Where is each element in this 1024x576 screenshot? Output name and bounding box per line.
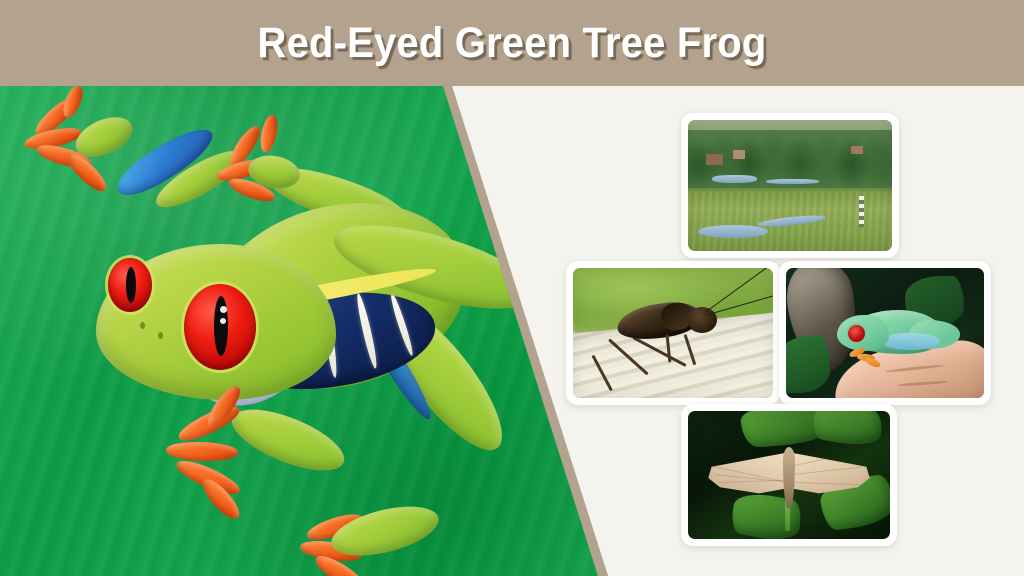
frog-nostril — [140, 322, 145, 329]
wetland-house — [851, 146, 863, 154]
habitat-photo-card[interactable] — [681, 113, 899, 258]
moth-photo-card[interactable] — [681, 404, 897, 546]
wetland-house — [733, 150, 745, 159]
cricket-photo-card[interactable] — [566, 261, 780, 405]
wetland-habitat-photo — [688, 120, 892, 251]
slide-canvas: Red-Eyed Green Tree Frog — [0, 0, 1024, 576]
frog-far-eye — [108, 258, 152, 312]
hand-photo-leaf — [786, 336, 830, 393]
page-title: Red-Eyed Green Tree Frog — [36, 0, 988, 86]
wetland-marker-post — [859, 196, 863, 227]
frog-toe — [258, 113, 281, 153]
frog-in-hand-photo-card[interactable] — [779, 261, 991, 405]
tree-frog-in-hand-photo — [786, 268, 984, 398]
moth-prey-photo — [688, 411, 890, 539]
frog-pupil — [126, 267, 136, 303]
wetland-house — [706, 154, 722, 164]
frog-pupil — [214, 296, 228, 356]
wetland-pond — [712, 175, 757, 183]
cricket-prey-photo — [573, 268, 773, 398]
cricket-head — [687, 307, 717, 333]
wetland-stream — [698, 225, 767, 238]
frog-toe — [60, 86, 87, 120]
wetland-pond — [766, 179, 819, 184]
frog-nostril — [158, 332, 163, 339]
moth-wing-vein — [718, 480, 784, 483]
frog-rear-left-foot-base — [224, 397, 352, 483]
frog-near-eye — [184, 284, 256, 370]
frog-flank-bar — [354, 292, 379, 369]
frog-toe — [166, 441, 239, 463]
moth-wing-vein — [795, 482, 861, 485]
frog-flank-bar — [388, 292, 415, 357]
moth-wing-vein — [792, 467, 863, 475]
hand-frog-flank — [881, 333, 940, 350]
